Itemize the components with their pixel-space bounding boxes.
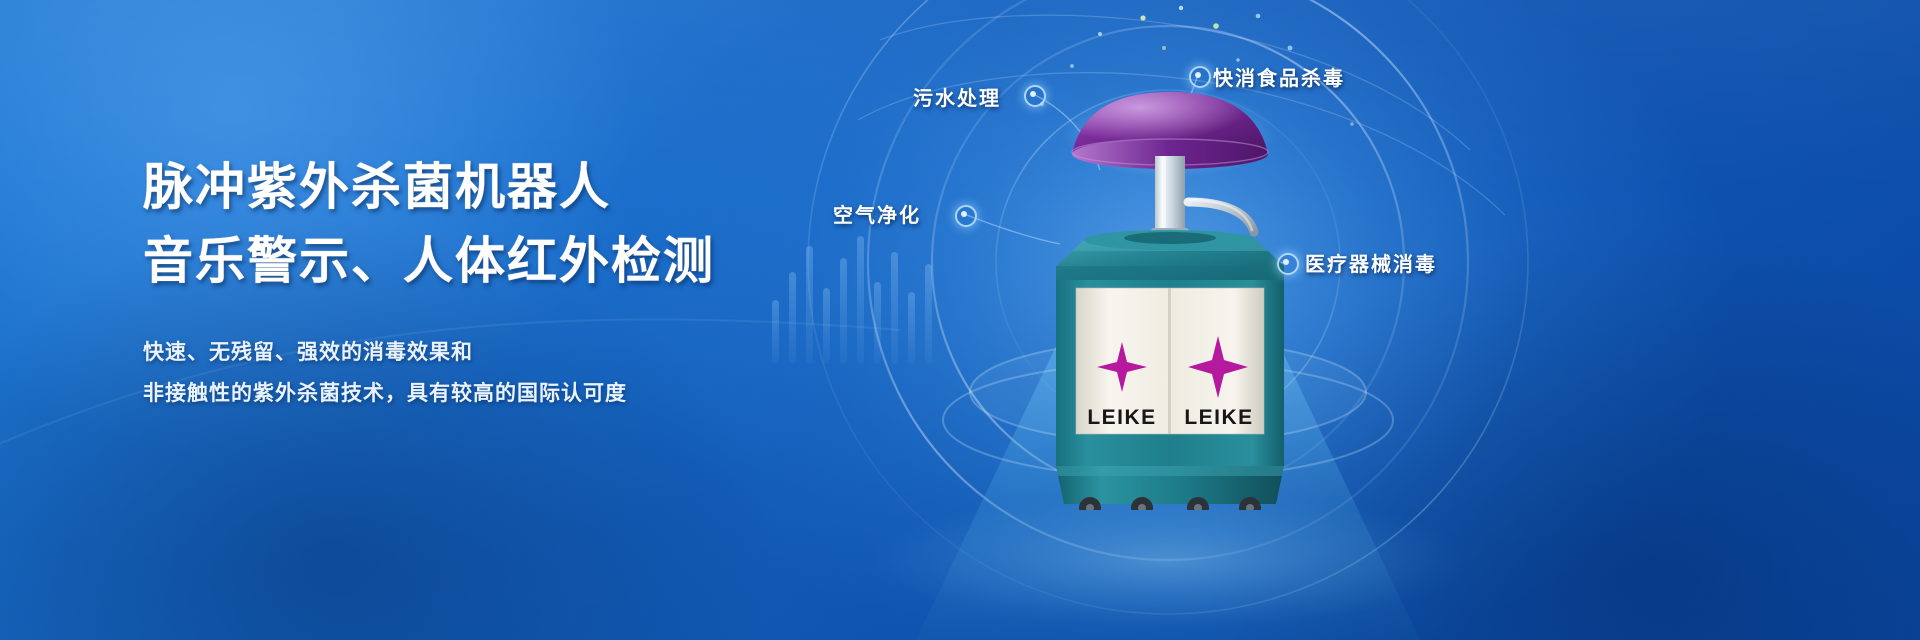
callout-label-medical: 医疗器械消毒 bbox=[1305, 248, 1437, 277]
headline-line-2: 音乐警示、人体红外检测 bbox=[143, 224, 903, 298]
connector-dot-icon-food bbox=[1189, 66, 1211, 88]
svg-text:LEIKE: LEIKE bbox=[1184, 406, 1253, 429]
description-line-2: 非接触性的紫外杀菌技术，具有较高的国际认可度 bbox=[143, 373, 903, 414]
description-line-1: 快速、无残留、强效的消毒效果和 bbox=[143, 332, 903, 373]
callout-label-wastewater: 污水处理 bbox=[913, 82, 1001, 111]
headline-line-1: 脉冲紫外杀菌机器人 bbox=[143, 150, 903, 224]
callout-label-food: 快消食品杀毒 bbox=[1213, 62, 1345, 91]
hero-banner: LEIKE LEIKE 脉冲紫外杀菌机器人 音乐警示、人体红外检测 快速、无残留… bbox=[0, 0, 1920, 640]
callout-label-air: 空气净化 bbox=[833, 199, 921, 228]
connector-dot-icon-wastewater bbox=[1024, 85, 1046, 107]
svg-text:LEIKE: LEIKE bbox=[1087, 406, 1156, 429]
uv-disinfection-robot-illustration: LEIKE LEIKE bbox=[1010, 90, 1330, 510]
connector-dot-icon-medical bbox=[1277, 253, 1299, 275]
hero-copy-block: 脉冲紫外杀菌机器人 音乐警示、人体红外检测 快速、无残留、强效的消毒效果和 非接… bbox=[143, 150, 903, 414]
description-block: 快速、无残留、强效的消毒效果和 非接触性的紫外杀菌技术，具有较高的国际认可度 bbox=[143, 332, 903, 414]
connector-dot-icon-air bbox=[955, 205, 977, 227]
